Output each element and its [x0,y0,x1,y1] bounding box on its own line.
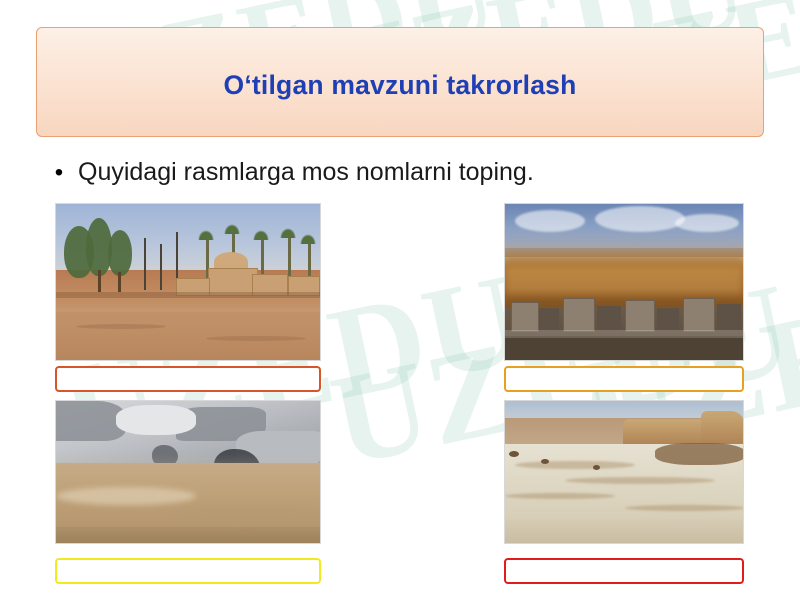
picture-grid [0,0,800,600]
picture-top-right [504,203,744,361]
picture-top-left [55,203,321,361]
picture-bottom-right [504,400,744,544]
photo-village [55,203,321,361]
picture-bottom-left [55,400,321,544]
answer-box-top-right[interactable] [504,366,744,392]
answer-box-bottom-left[interactable] [55,558,321,584]
photo-desert [504,400,744,544]
answer-box-top-left[interactable] [55,366,321,392]
photo-rockfall [55,400,321,544]
photo-dust-storm [504,203,744,361]
answer-box-bottom-right[interactable] [504,558,744,584]
